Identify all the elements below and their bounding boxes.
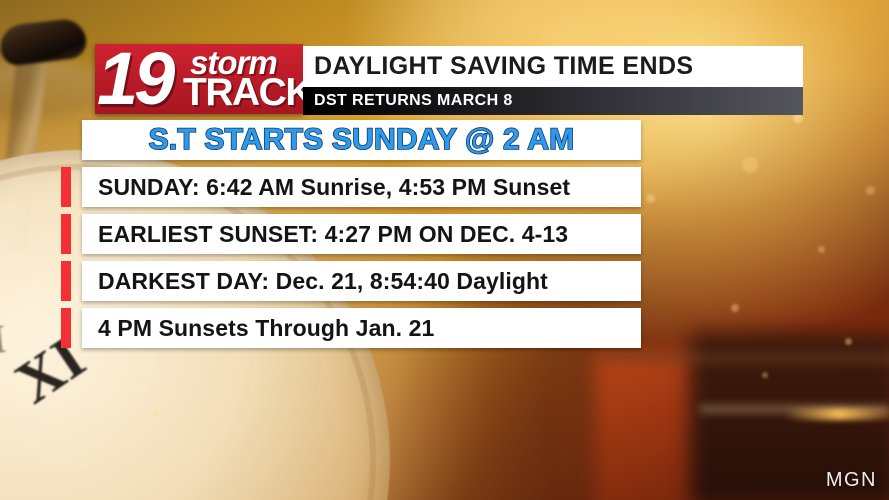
background-ledge-upper: [600, 352, 889, 364]
fact-text: SUNDAY: 6:42 AM Sunrise, 4:53 PM Sunset: [98, 174, 570, 201]
mgn-watermark: MGN: [826, 469, 877, 492]
fact-row: SUNDAY: 6:42 AM Sunrise, 4:53 PM Sunset: [61, 167, 641, 207]
logo-track-text: TRACK: [183, 73, 312, 113]
standard-time-headline: S.T STARTS SUNDAY @ 2 AM: [82, 120, 641, 160]
bokeh-dot: [762, 372, 768, 378]
fact-text: 4 PM Sunsets Through Jan. 21: [98, 315, 434, 342]
bokeh-dot: [866, 186, 875, 195]
standard-time-headline-text: S.T STARTS SUNDAY @ 2 AM: [149, 123, 575, 157]
fact-panel: DARKEST DAY: Dec. 21, 8:54:40 Daylight: [82, 261, 641, 301]
row-accent-bar: [61, 308, 71, 348]
background-shape-left: [596, 352, 700, 500]
background-glow-streak: [784, 408, 889, 420]
fact-panel: SUNDAY: 6:42 AM Sunrise, 4:53 PM Sunset: [82, 167, 641, 207]
logo-channel-number: 19: [97, 42, 171, 116]
clock-numeral-xii: XII: [0, 315, 8, 368]
headline-title: DAYLIGHT SAVING TIME ENDS: [314, 52, 693, 81]
headline-title-bar: DAYLIGHT SAVING TIME ENDS: [303, 46, 803, 87]
fact-row: 4 PM Sunsets Through Jan. 21: [61, 308, 641, 348]
broadcast-graphic: XII XI III IV 19 storm TRACK DAYLIGHT SA…: [0, 0, 889, 500]
bokeh-dot: [818, 246, 825, 253]
bokeh-dot: [262, 468, 268, 474]
bokeh-dot: [152, 410, 159, 417]
headline-subtitle: DST RETURNS MARCH 8: [314, 92, 513, 110]
fact-panel: EARLIEST SUNSET: 4:27 PM ON DEC. 4-13: [82, 214, 641, 254]
fact-text: DARKEST DAY: Dec. 21, 8:54:40 Daylight: [98, 268, 548, 295]
bokeh-dot: [742, 157, 758, 173]
row-accent-bar: [61, 261, 71, 301]
row-accent-bar: [61, 167, 71, 207]
fact-text: EARLIEST SUNSET: 4:27 PM ON DEC. 4-13: [98, 221, 568, 248]
fact-row: DARKEST DAY: Dec. 21, 8:54:40 Daylight: [61, 261, 641, 301]
row-accent-bar: [61, 214, 71, 254]
headline-subtitle-bar: DST RETURNS MARCH 8: [303, 87, 803, 115]
bokeh-dot: [845, 338, 852, 345]
fact-panel: 4 PM Sunsets Through Jan. 21: [82, 308, 641, 348]
bokeh-dot: [731, 304, 739, 312]
bokeh-dot: [646, 194, 655, 203]
fact-row: EARLIEST SUNSET: 4:27 PM ON DEC. 4-13: [61, 214, 641, 254]
station-logo: 19 storm TRACK: [95, 44, 303, 114]
